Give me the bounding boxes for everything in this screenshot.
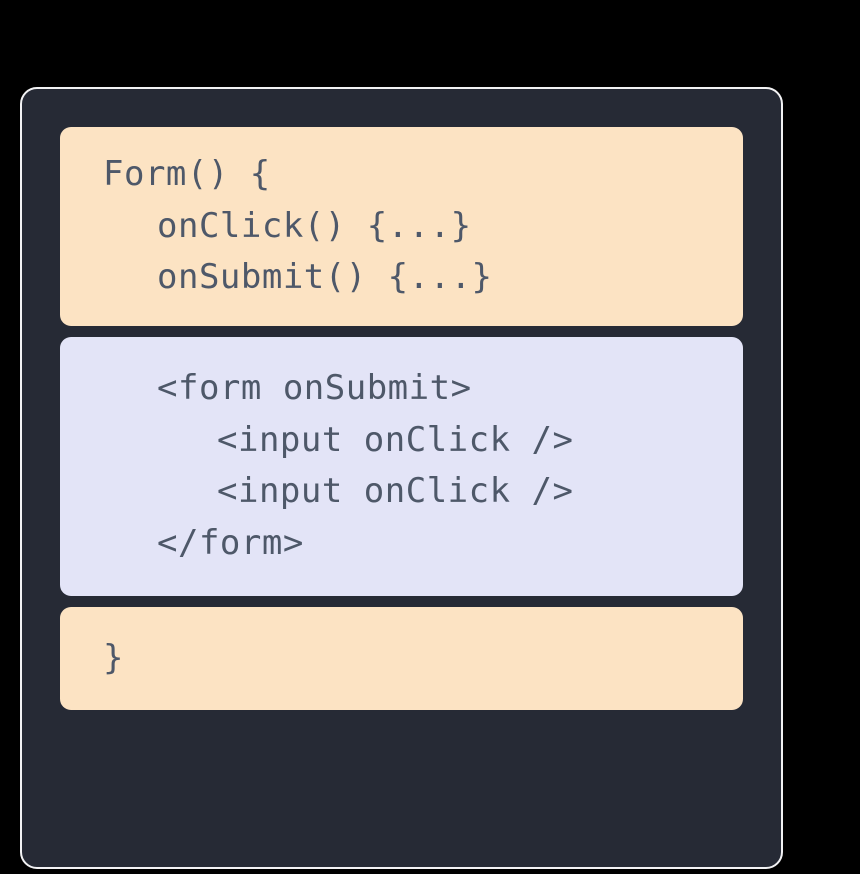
code-line: Form() { [60, 149, 743, 201]
code-block-markup-children: <form onSubmit> <input onClick /> <input… [60, 337, 743, 596]
code-line: onClick() {...} [60, 201, 743, 253]
code-line: } [60, 633, 743, 685]
code-line: <form onSubmit> [60, 363, 743, 415]
code-line: </form> [60, 518, 743, 570]
code-card: Form() { onClick() {...} onSubmit() {...… [20, 87, 783, 869]
code-line: <input onClick /> [60, 415, 743, 467]
code-line: <input onClick /> [60, 466, 743, 518]
code-block-component-open: Form() { onClick() {...} onSubmit() {...… [60, 127, 743, 326]
canvas: Form() { onClick() {...} onSubmit() {...… [0, 0, 860, 874]
code-line: onSubmit() {...} [60, 252, 743, 304]
code-block-component-close: } [60, 607, 743, 711]
